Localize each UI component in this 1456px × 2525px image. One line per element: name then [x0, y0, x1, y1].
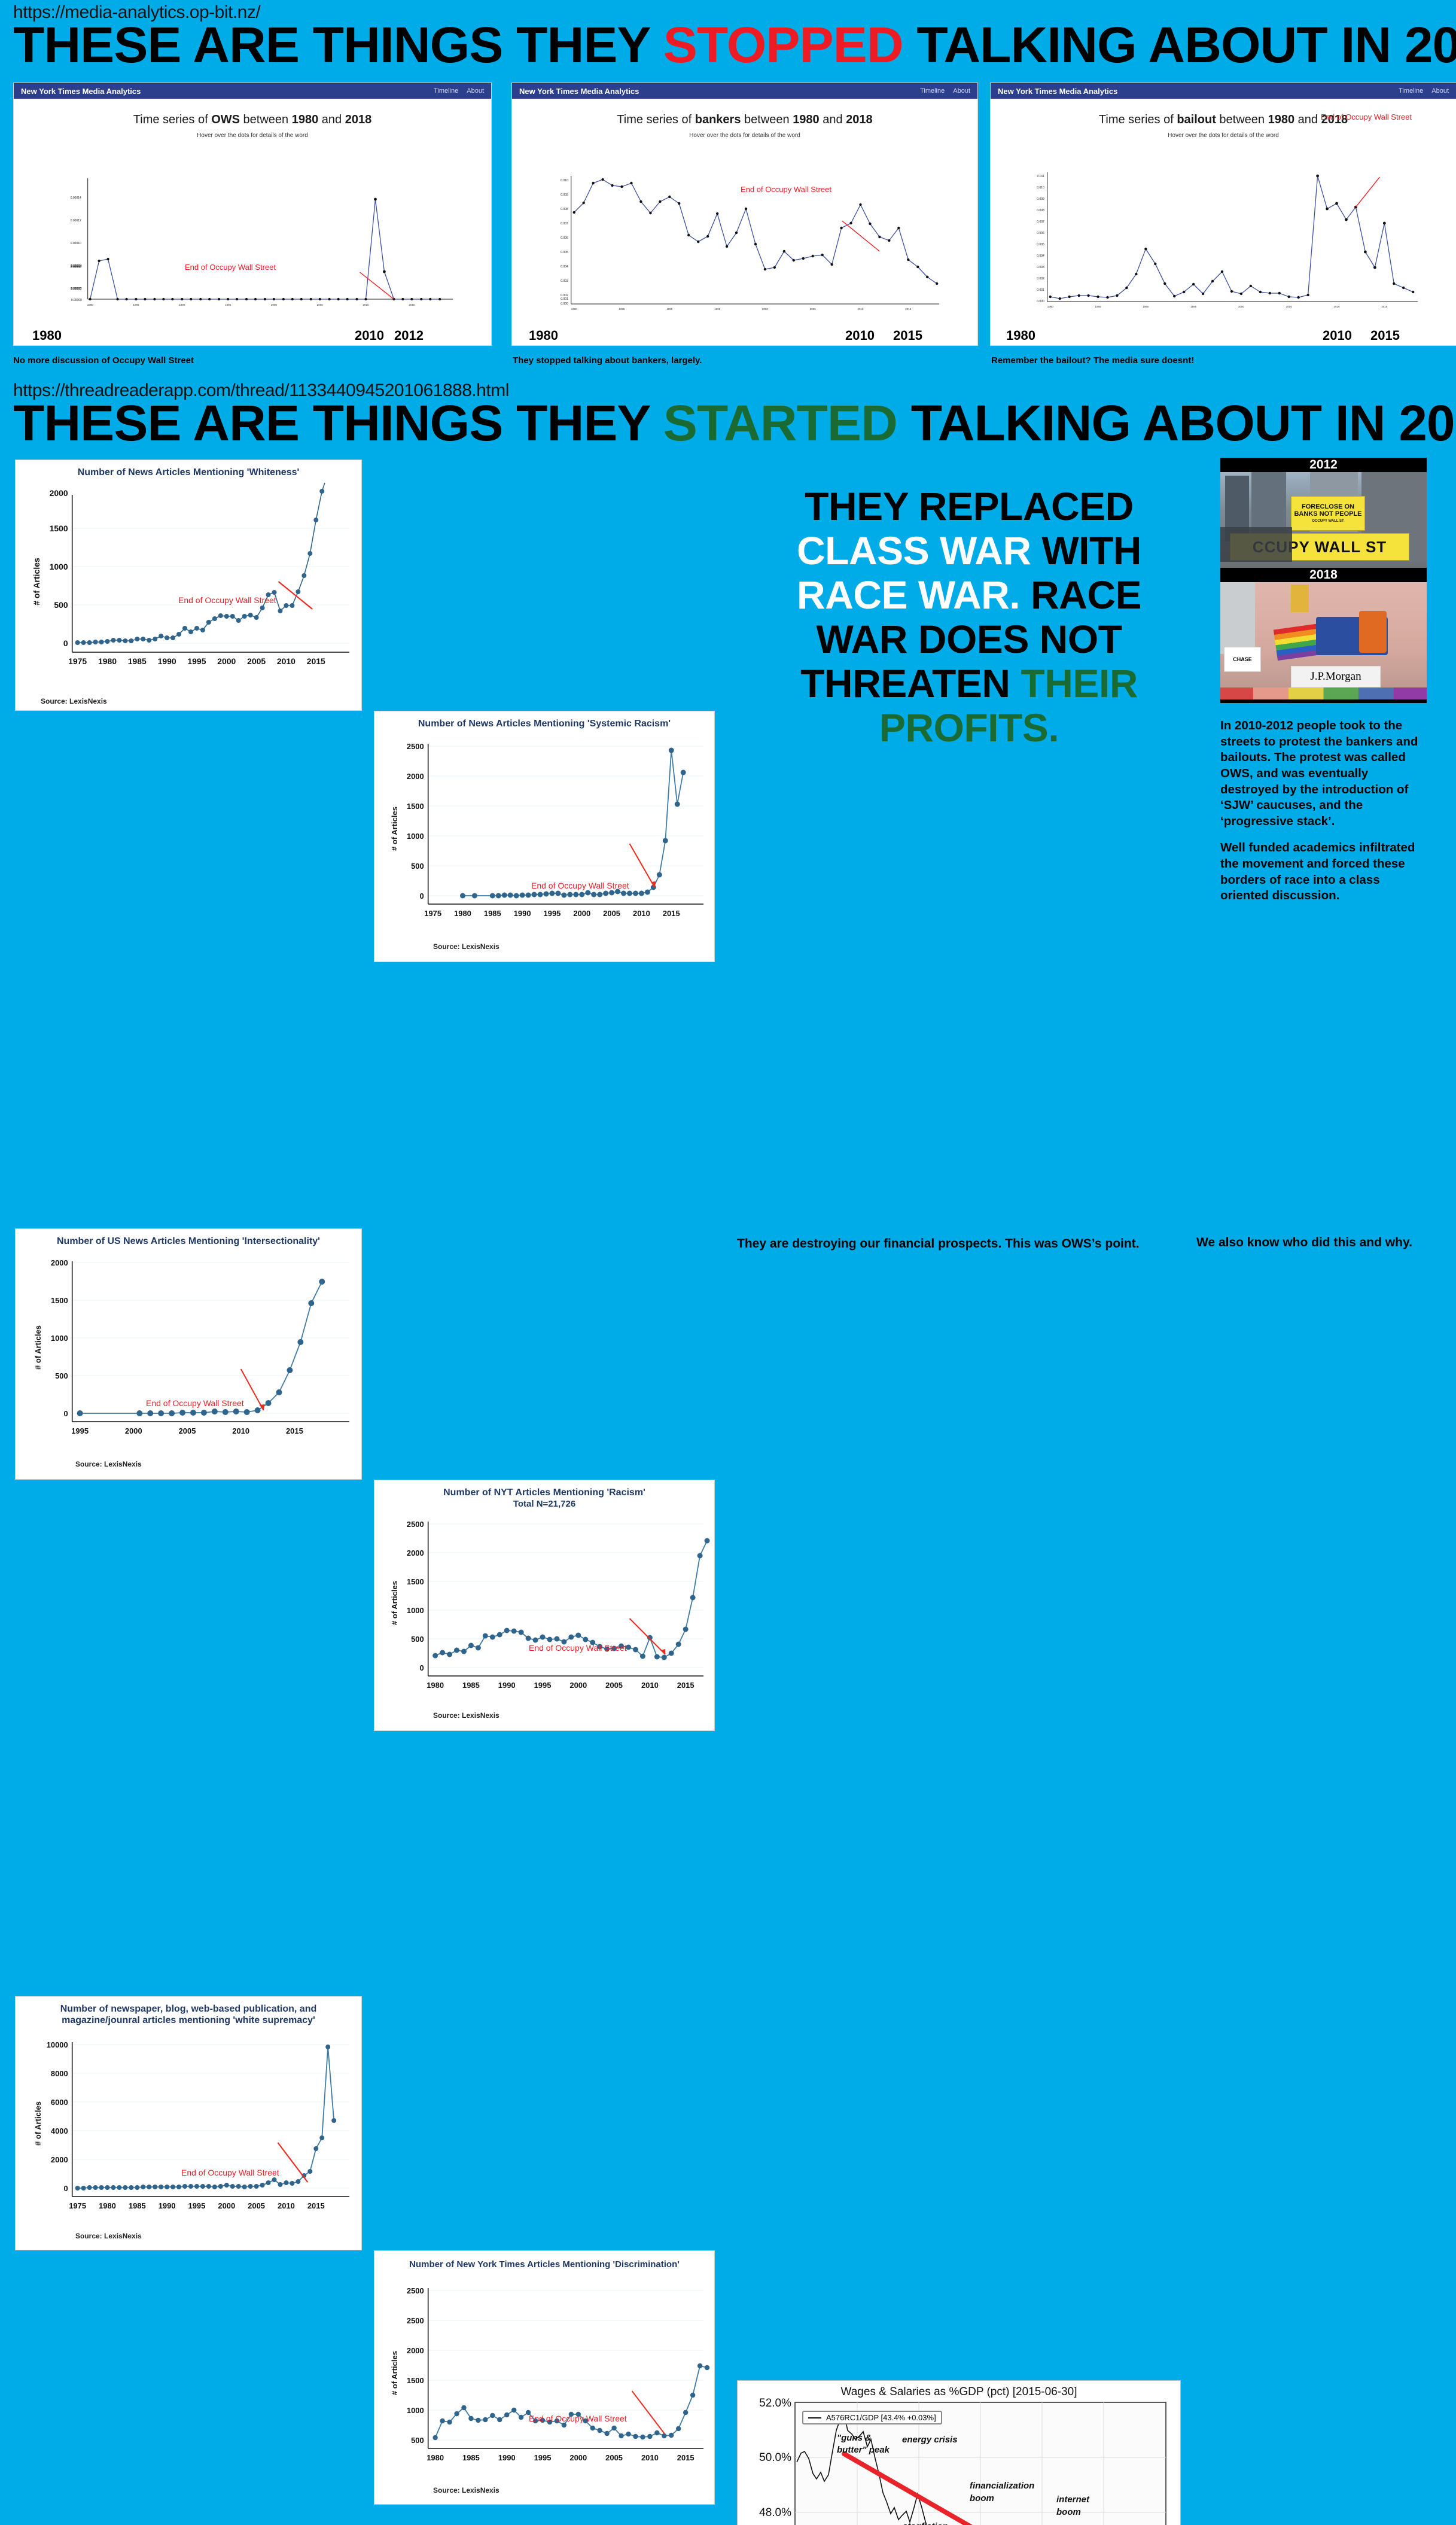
svg-text:0.000: 0.000 [561, 302, 568, 306]
svg-text:1980: 1980 [427, 1681, 444, 1690]
bailout-plot[interactable]: 0.0110.0100.009 0.0080.0070.006 0.0050.0… [991, 141, 1456, 321]
svg-text:2000: 2000 [569, 2453, 587, 2462]
svg-text:0.00012: 0.00012 [71, 219, 81, 223]
title-end-year: 2018 [345, 113, 372, 126]
svg-text:2010: 2010 [1334, 305, 1340, 308]
svg-text:1995: 1995 [71, 1426, 89, 1435]
slogan-line-5: THREATEN THEIR [742, 662, 1196, 706]
caption-bailout: Remember the bailout? The media sure doe… [991, 355, 1194, 366]
ows-annotation: End of Occupy Wall Street [178, 595, 276, 605]
annot-guns-butter-peak: "guns & butter" peak [837, 2432, 897, 2456]
ows-annotation: End of Occupy Wall Street [146, 1398, 244, 1408]
big-year-2015: 2015 [893, 328, 922, 343]
chart-subtitle: Total N=21,726 [374, 1499, 714, 1509]
svg-text:2005: 2005 [810, 308, 816, 311]
svg-text:0: 0 [63, 638, 68, 648]
svg-text:2000: 2000 [573, 909, 590, 918]
svg-text:50.0%: 50.0% [759, 2451, 791, 2464]
nav-timeline[interactable]: Timeline [920, 87, 945, 95]
svg-text:1985: 1985 [133, 303, 139, 306]
svg-text:2010: 2010 [633, 909, 650, 918]
svg-text:2005: 2005 [248, 2201, 265, 2210]
svg-text:2005: 2005 [605, 2453, 623, 2462]
svg-text:1990: 1990 [1143, 305, 1149, 308]
svg-text:2015: 2015 [677, 1681, 695, 1690]
big-year-1980: 1980 [529, 328, 558, 343]
chart-title: Number of News Articles Mentioning 'Syst… [374, 711, 714, 730]
svg-text:1985: 1985 [462, 1681, 480, 1690]
nyt-brand: New York Times Media Analytics [21, 87, 141, 96]
svg-text:# of Articles: # of Articles [33, 1325, 42, 1370]
svg-text:1975: 1975 [69, 2201, 86, 2210]
svg-text:0.008: 0.008 [561, 208, 568, 211]
svg-text:1000: 1000 [50, 562, 68, 571]
svg-text:0.009: 0.009 [1037, 197, 1044, 201]
svg-text:2015: 2015 [307, 2201, 325, 2210]
svg-text:2010: 2010 [363, 303, 369, 306]
svg-text:1980: 1980 [454, 909, 471, 918]
annot-financialization-boom: financialization boom [970, 2480, 1059, 2505]
slogan-race-war: RACE WAR. [797, 573, 1020, 617]
svg-text:2000: 2000 [569, 1681, 587, 1690]
title-start-year: 1980 [292, 113, 319, 126]
chart-card-systemic-racism: Number of News Articles Mentioning 'Syst… [374, 711, 715, 962]
big-year-2010: 2010 [1323, 328, 1352, 343]
svg-text:2015: 2015 [905, 308, 911, 311]
explainer-paragraph-2: Well funded academics infiltrated the mo… [1220, 840, 1424, 904]
nyt-brand: New York Times Media Analytics [519, 87, 639, 96]
svg-text:# of Articles: # of Articles [33, 2101, 42, 2146]
big-year-2010: 2010 [845, 328, 875, 343]
svg-text:1990: 1990 [514, 909, 531, 918]
svg-text:0.008: 0.008 [1037, 209, 1044, 212]
title-start-year: 1980 [793, 113, 820, 126]
svg-text:2500: 2500 [407, 742, 424, 751]
svg-text:2010: 2010 [641, 2453, 659, 2462]
ows-annotation: End of Occupy Wall Street [531, 881, 629, 890]
svg-text:1990: 1990 [158, 656, 176, 666]
chart-title: Time series of OWS between 1980 and 2018 [14, 113, 491, 127]
svg-text:4000: 4000 [51, 2127, 68, 2135]
ows-annotation: End of Occupy Wall Street [529, 2414, 627, 2423]
svg-text:1995: 1995 [534, 2453, 552, 2462]
svg-text:# of Articles: # of Articles [32, 558, 41, 606]
slogan-their: THEIR [1021, 661, 1138, 705]
svg-text:2000: 2000 [407, 1549, 424, 1557]
svg-text:1985: 1985 [462, 2453, 480, 2462]
ows-annotation: End of Occupy Wall Street [1321, 112, 1412, 121]
banner-foreclose-sub: OCCUPY WALL ST [1312, 519, 1344, 524]
svg-text:0.00004: 0.00004 [71, 264, 82, 268]
svg-text:1990: 1990 [159, 2201, 176, 2210]
title-mid: between [240, 113, 292, 126]
svg-text:1980: 1980 [87, 303, 93, 306]
svg-text:1990: 1990 [498, 1681, 516, 1690]
svg-text:1995: 1995 [225, 303, 231, 306]
slogan-line-2: CLASS WAR WITH [742, 529, 1196, 573]
ows-annotation: End of Occupy Wall Street [185, 263, 276, 272]
svg-text:2000: 2000 [762, 308, 768, 311]
systemic-racism-plot: 05001000 150020002500 # of Articles [374, 733, 714, 939]
chart-title: Number of newspaper, blog, web-based pub… [16, 1997, 361, 2027]
banner-foreclose-text: FORECLOSE ON BANKS NOT PEOPLE [1291, 503, 1364, 518]
big-year-2010: 2010 [355, 328, 384, 343]
nav-about[interactable]: About [953, 87, 970, 95]
svg-text:0.00010: 0.00010 [71, 242, 81, 245]
svg-text:500: 500 [411, 1635, 424, 1644]
svg-text:1000: 1000 [51, 1334, 68, 1343]
nyt-navbar: New York Times Media Analytics Timeline … [991, 83, 1456, 99]
svg-text:0.00002: 0.00002 [71, 287, 82, 291]
photo-pride-2018: CHASE J.P.Morgan [1220, 582, 1427, 699]
headline-started: THESE ARE THINGS THEY STARTED TALKING AB… [13, 400, 1456, 448]
svg-text:0.004: 0.004 [561, 265, 568, 269]
svg-text:2005: 2005 [603, 909, 620, 918]
chart-card-wages-gdp: Wages & Salaries as %GDP (pct) [2015-06-… [737, 2380, 1181, 2525]
nyt-discrimination-plot: 50010001500 20002500 x 2500 # of Article… [374, 2277, 714, 2484]
svg-text:1985: 1985 [129, 2201, 146, 2210]
headline-started-pre: THESE ARE THINGS THEY [13, 395, 663, 451]
caption-bankers: They stopped talking about bankers, larg… [513, 355, 702, 366]
svg-text:0.010: 0.010 [561, 179, 568, 182]
svg-text:1995: 1995 [544, 909, 561, 918]
svg-text:1980: 1980 [571, 308, 577, 311]
title-word: bailout [1177, 113, 1216, 126]
svg-text:1980: 1980 [99, 2201, 116, 2210]
headline-stopped-highlight: STOPPED [663, 17, 903, 73]
svg-text:1000: 1000 [407, 1606, 424, 1615]
svg-text:1985: 1985 [484, 909, 501, 918]
white-supremacy-plot: 020004000 6000800010000 # of Articles [16, 2034, 361, 2231]
svg-text:2000: 2000 [271, 303, 277, 306]
svg-text:1990: 1990 [179, 303, 185, 306]
svg-text:1500: 1500 [407, 1577, 424, 1586]
svg-text:1990: 1990 [666, 308, 672, 311]
legend-line-swatch [808, 2417, 821, 2418]
svg-text:1995: 1995 [714, 308, 720, 311]
svg-text:2010: 2010 [641, 1681, 659, 1690]
big-year-2012: 2012 [394, 328, 424, 343]
chart-card-whiteness: Number of News Articles Mentioning 'Whit… [15, 460, 362, 711]
svg-text:1000: 1000 [407, 2406, 424, 2415]
svg-text:2015: 2015 [286, 1426, 303, 1435]
title-pre: Time series of [1099, 113, 1177, 126]
svg-text:1995: 1995 [187, 656, 206, 666]
svg-text:1990: 1990 [498, 2453, 516, 2462]
svg-text:1500: 1500 [51, 1296, 68, 1305]
svg-text:1995: 1995 [188, 2201, 206, 2210]
photo-ows-2012: FORECLOSE ON BANKS NOT PEOPLE OCCUPY WAL… [1220, 472, 1427, 568]
nyt-racism-plot: 05001000 150020002500 # of Articles [374, 1513, 714, 1711]
svg-text:8000: 8000 [51, 2069, 68, 2078]
svg-text:0.001: 0.001 [1037, 288, 1044, 292]
svg-text:0.002: 0.002 [1037, 277, 1044, 281]
title-and: and [1294, 113, 1321, 126]
svg-text:2015: 2015 [663, 909, 680, 918]
svg-text:2000: 2000 [1238, 305, 1244, 308]
nav-about[interactable]: About [467, 87, 484, 95]
svg-text:2000: 2000 [50, 488, 68, 498]
chart-source: Source: LexisNexis [41, 697, 107, 705]
nav-timeline[interactable]: Timeline [434, 87, 458, 95]
chart-source: Source: LexisNexis [75, 1460, 142, 1468]
big-year-1980: 1980 [1006, 328, 1035, 343]
svg-text:2015: 2015 [1381, 305, 1387, 308]
title-mid: between [1216, 113, 1268, 126]
svg-text:# of Articles: # of Articles [390, 807, 399, 851]
banner-foreclose: FORECLOSE ON BANKS NOT PEOPLE OCCUPY WAL… [1291, 496, 1365, 531]
svg-text:# of Articles: # of Articles [390, 2351, 399, 2395]
svg-text:500: 500 [55, 1371, 68, 1380]
svg-text:0.00000: 0.00000 [71, 299, 82, 302]
slogan-line-4: WAR DOES NOT [742, 617, 1196, 662]
nyt-navbar: New York Times Media Analytics Timeline … [512, 83, 977, 99]
nyt-brand: New York Times Media Analytics [998, 87, 1117, 96]
svg-text:0.000: 0.000 [1037, 300, 1044, 303]
svg-text:2000: 2000 [51, 1258, 68, 1267]
svg-text:0.001: 0.001 [561, 297, 568, 301]
svg-text:2000: 2000 [407, 2346, 424, 2355]
svg-text:1995: 1995 [534, 1681, 552, 1690]
svg-text:2010: 2010 [232, 1426, 249, 1435]
legend-label: A576RC1/GDP [43.4% +0.03%] [826, 2413, 936, 2422]
svg-text:2005: 2005 [605, 1681, 623, 1690]
chart-source: Source: LexisNexis [75, 2232, 142, 2240]
svg-text:2005: 2005 [179, 1426, 196, 1435]
bankers-plot[interactable]: 0.0100.0090.008 0.0070.0060.005 0.0040.0… [512, 141, 977, 321]
nav-about[interactable]: About [1431, 87, 1449, 95]
svg-text:2000: 2000 [217, 656, 236, 666]
svg-text:500: 500 [411, 862, 424, 871]
svg-text:0.011: 0.011 [1037, 175, 1044, 178]
slogan-threaten: THREATEN [800, 661, 1021, 705]
svg-text:0.003: 0.003 [1037, 266, 1044, 269]
explainer-text: In 2010-2012 people took to the streets … [1220, 718, 1424, 904]
chart-title: Time series of bankers between 1980 and … [512, 113, 977, 127]
chart-title: Number of News Articles Mentioning 'Whit… [16, 460, 361, 479]
svg-text:1980: 1980 [98, 656, 117, 666]
svg-text:2015: 2015 [677, 2453, 695, 2462]
svg-text:1985: 1985 [619, 308, 625, 311]
nyt-panel-bankers: New York Times Media Analytics Timeline … [511, 83, 978, 346]
svg-text:1975: 1975 [424, 909, 441, 918]
annot-stagflation: stagflation [903, 2521, 948, 2525]
svg-text:2005: 2005 [1286, 305, 1292, 308]
chart-source: Source: LexisNexis [433, 1711, 499, 1720]
headline-started-post: TALKING ABOUT IN 2012 [897, 395, 1456, 451]
svg-text:0.009: 0.009 [561, 193, 568, 197]
slogan-block: THEY REPLACED CLASS WAR WITH RACE WAR. R… [742, 485, 1196, 750]
svg-text:2500: 2500 [407, 1520, 424, 1529]
svg-text:0.004: 0.004 [1037, 254, 1044, 258]
svg-text:# of Articles: # of Articles [390, 1581, 399, 1625]
big-year-1980: 1980 [32, 328, 62, 343]
slogan-with: WITH [1031, 528, 1141, 573]
svg-text:2000: 2000 [125, 1426, 142, 1435]
svg-text:1980: 1980 [1047, 305, 1053, 308]
svg-text:2010: 2010 [278, 2201, 295, 2210]
svg-text:1975: 1975 [68, 656, 87, 666]
svg-text:0.010: 0.010 [1037, 186, 1044, 190]
caption-privilege: We also know who did this and why. [1196, 1236, 1412, 1250]
svg-text:48.0%: 48.0% [759, 2506, 791, 2519]
svg-text:0: 0 [63, 1409, 68, 1418]
wages-legend: A576RC1/GDP [43.4% +0.03%] [802, 2411, 942, 2424]
chart-title: Number of US News Articles Mentioning 'I… [16, 1229, 361, 1248]
svg-text:2015: 2015 [409, 303, 415, 306]
photo-year-2018: 2018 [1220, 568, 1427, 582]
nyt-panel-bailout: New York Times Media Analytics Timeline … [990, 83, 1456, 346]
headline-stopped: THESE ARE THINGS THEY STOPPED TALKING AB… [13, 22, 1456, 69]
svg-text:0.003: 0.003 [561, 279, 568, 283]
svg-text:0: 0 [420, 1663, 424, 1672]
svg-text:2500: 2500 [407, 2316, 424, 2325]
svg-text:2010: 2010 [277, 656, 296, 666]
jpmorgan-float: J.P.Morgan [1291, 666, 1381, 687]
svg-text:0.006: 0.006 [561, 236, 568, 240]
svg-text:0.006: 0.006 [1037, 232, 1044, 235]
svg-text:1500: 1500 [407, 802, 424, 811]
annot-internet-boom: internet boom [1056, 2493, 1110, 2518]
slogan-line-3: RACE WAR. RACE [742, 573, 1196, 617]
ows-plot[interactable]: 0.000140.00012 0.000100.00008 0.00006. 0… [14, 142, 491, 316]
title-start-year: 1980 [1268, 113, 1295, 126]
chart-card-white-supremacy: Number of newspaper, blog, web-based pub… [15, 1996, 362, 2250]
svg-text:2000: 2000 [407, 772, 424, 781]
svg-text:0: 0 [420, 892, 424, 901]
svg-text:0.005: 0.005 [1037, 243, 1044, 247]
title-pre: Time series of [617, 113, 695, 126]
slogan-class-war: CLASS WAR [797, 528, 1031, 573]
chart-title: Number of NYT Articles Mentioning 'Racis… [374, 1480, 714, 1499]
svg-text:2010: 2010 [858, 308, 864, 311]
svg-text:6000: 6000 [51, 2098, 68, 2107]
svg-text:2005: 2005 [247, 656, 266, 666]
ows-annotation: End of Occupy Wall Street [181, 2168, 279, 2177]
chart-subtitle: Hover over the dots for details of the w… [991, 132, 1456, 139]
caption-wages: They are destroying our financial prospe… [737, 1237, 1140, 1251]
svg-text:1985: 1985 [1095, 305, 1101, 308]
svg-text:0.007: 0.007 [1037, 220, 1044, 224]
nyt-navbar: New York Times Media Analytics Timeline … [14, 83, 491, 99]
svg-text:0.005: 0.005 [561, 251, 568, 254]
slogan-line-1: THEY REPLACED [742, 485, 1196, 529]
chart-card-nyt-discrimination: Number of New York Times Articles Mentio… [374, 2250, 715, 2505]
chase-sign: CHASE [1224, 647, 1261, 672]
svg-text:1500: 1500 [407, 2376, 424, 2385]
whiteness-plot: 05001000 15002000 # of Articles [16, 483, 361, 686]
svg-text:2500: 2500 [407, 2286, 424, 2295]
slogan-line-6: PROFITS. [742, 706, 1196, 750]
svg-text:1500: 1500 [50, 524, 68, 533]
chart-subtitle: Hover over the dots for details of the w… [14, 132, 491, 139]
chart-card-nyt-racism: Number of NYT Articles Mentioning 'Racis… [374, 1480, 715, 1731]
nyt-panel-ows: New York Times Media Analytics Timeline … [13, 83, 492, 346]
chart-source: Source: LexisNexis [433, 2486, 499, 2494]
headline-started-highlight: STARTED [663, 395, 897, 451]
nav-timeline[interactable]: Timeline [1399, 87, 1423, 95]
title-and: and [820, 113, 846, 126]
headline-stopped-post: TALKING ABOUT IN 2012 [903, 17, 1456, 73]
svg-text:1995: 1995 [1190, 305, 1196, 308]
svg-text:1985: 1985 [128, 656, 147, 666]
svg-text:500: 500 [411, 2436, 424, 2445]
svg-text:1980: 1980 [427, 2453, 444, 2462]
svg-text:0.00014: 0.00014 [71, 196, 81, 200]
title-and: and [318, 113, 345, 126]
title-word: OWS [211, 113, 240, 126]
svg-text:500: 500 [54, 600, 68, 610]
chart-card-intersectionality: Number of US News Articles Mentioning 'I… [15, 1228, 362, 1480]
ows-annotation: End of Occupy Wall Street [741, 185, 831, 194]
chart-title: Number of New York Times Articles Mentio… [374, 2251, 714, 2270]
svg-text:2000: 2000 [218, 2201, 235, 2210]
ows-annotation: End of Occupy Wall Street [529, 1643, 627, 1653]
chart-source: Source: LexisNexis [433, 942, 499, 951]
caption-ows: No more discussion of Occupy Wall Street [13, 355, 194, 366]
photo-comparison: 2012 FORECLOSE ON BANKS NOT PEOPLE OCCUP… [1220, 458, 1427, 703]
big-year-2015: 2015 [1370, 328, 1400, 343]
intersectionality-plot: 05001000 15002000 # of Articles 19952000… [16, 1251, 361, 1457]
explainer-paragraph-1: In 2010-2012 people took to the streets … [1220, 718, 1424, 829]
svg-text:2005: 2005 [317, 303, 323, 306]
svg-text:2015: 2015 [307, 656, 325, 666]
title-end-year: 2018 [846, 113, 873, 126]
chart-subtitle: Hover over the dots for details of the w… [512, 132, 977, 139]
photo-year-2012: 2012 [1220, 458, 1427, 472]
title-word: bankers [695, 113, 741, 126]
annot-energy-crisis: energy crisis [902, 2435, 958, 2445]
svg-text:10000: 10000 [47, 2040, 68, 2049]
svg-text:1000: 1000 [407, 832, 424, 841]
svg-text:52.0%: 52.0% [759, 2397, 791, 2410]
title-pre: Time series of [133, 113, 211, 126]
slogan-race: RACE [1020, 573, 1141, 617]
title-mid: between [741, 113, 793, 126]
svg-text:0: 0 [63, 2184, 68, 2193]
headline-stopped-pre: THESE ARE THINGS THEY [13, 17, 663, 73]
svg-text:0.007: 0.007 [561, 222, 568, 226]
svg-text:2000: 2000 [51, 2155, 68, 2164]
